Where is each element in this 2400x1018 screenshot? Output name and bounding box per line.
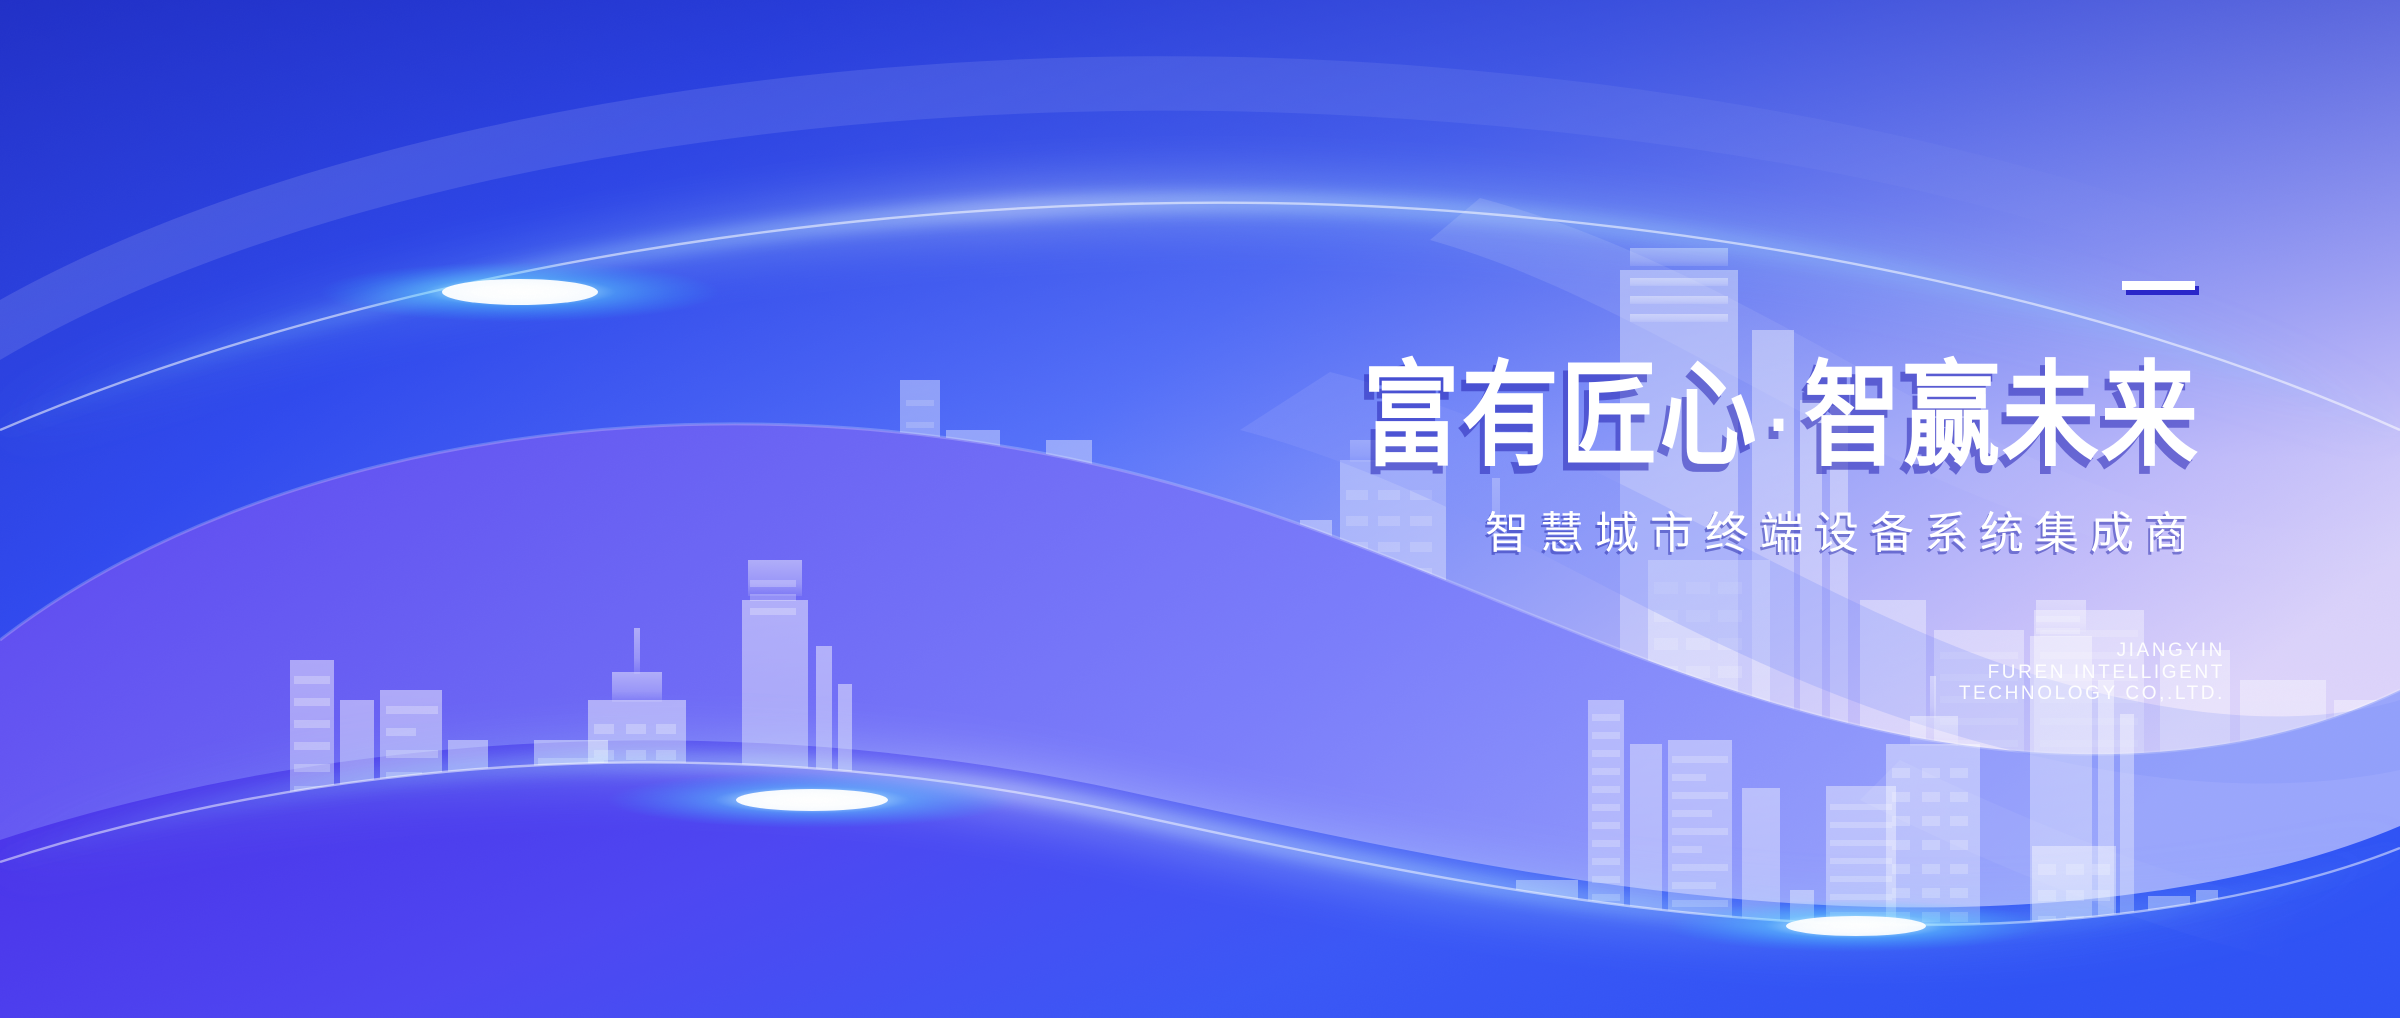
headline-right: 智赢未来 (1804, 351, 2200, 480)
company-line-2: FUREN INTELLIGENT (1805, 662, 2225, 684)
headline: 富有匠心·智赢未来 (1060, 358, 2200, 472)
subtitle: 智慧城市终端设备系统集成商 (1200, 512, 2200, 556)
accent-dash-marker (2122, 281, 2195, 290)
company-line-1: JIANGYIN (1805, 640, 2225, 662)
headline-left: 富有匠心 (1363, 351, 1759, 480)
company-line-3: TECHNOLOGY CO,.LTD. (1805, 683, 2225, 705)
promo-banner: 富有匠心·智赢未来 智慧城市终端设备系统集成商 JIANGYIN FUREN I… (0, 0, 2400, 1018)
headline-separator: · (1759, 379, 1804, 471)
company-name-block: JIANGYIN FUREN INTELLIGENT TECHNOLOGY CO… (1805, 640, 2225, 705)
